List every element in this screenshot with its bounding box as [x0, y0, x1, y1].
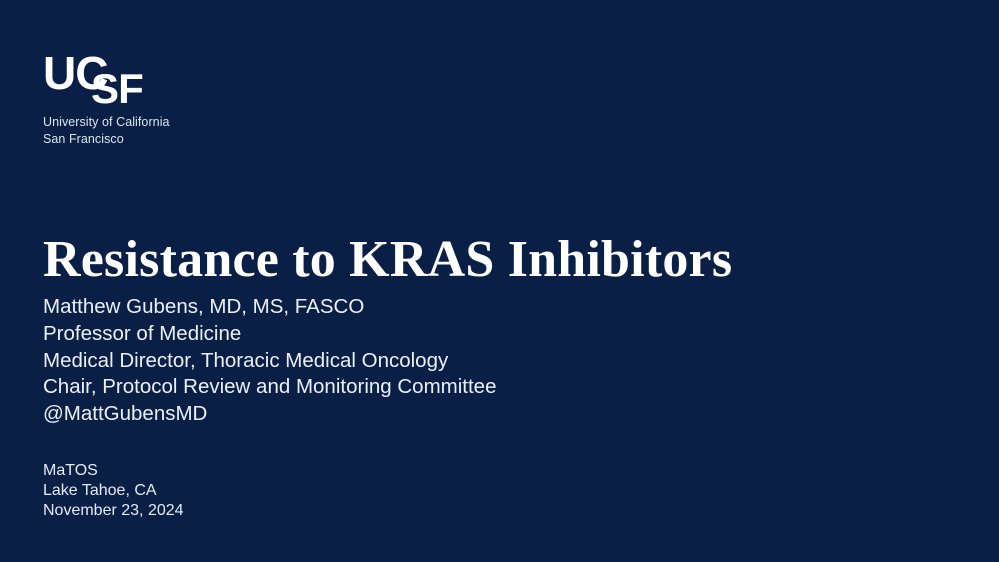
ucsf-logo-sf-text: SF	[91, 68, 143, 110]
page-title: Resistance to KRAS Inhibitors	[43, 233, 732, 288]
title-slide: UC SF University of California San Franc…	[0, 0, 999, 562]
event-date: November 23, 2024	[43, 501, 184, 521]
event-info: MaTOS Lake Tahoe, CA November 23, 2024	[43, 461, 184, 522]
ucsf-logo-mark: UC SF	[43, 50, 173, 110]
event-location: Lake Tahoe, CA	[43, 481, 184, 501]
ucsf-logo-tagline: University of California San Francisco	[43, 114, 303, 147]
presenter-role-medical-director: Medical Director, Thoracic Medical Oncol…	[43, 348, 496, 375]
presenter-info: Matthew Gubens, MD, MS, FASCO Professor …	[43, 294, 496, 428]
ucsf-logo: UC SF University of California San Franc…	[43, 50, 303, 147]
presenter-social-handle: @MattGubensMD	[43, 401, 496, 428]
presenter-title: Professor of Medicine	[43, 321, 496, 348]
presenter-name: Matthew Gubens, MD, MS, FASCO	[43, 294, 496, 321]
event-name: MaTOS	[43, 461, 184, 481]
presenter-role-chair: Chair, Protocol Review and Monitoring Co…	[43, 374, 496, 401]
